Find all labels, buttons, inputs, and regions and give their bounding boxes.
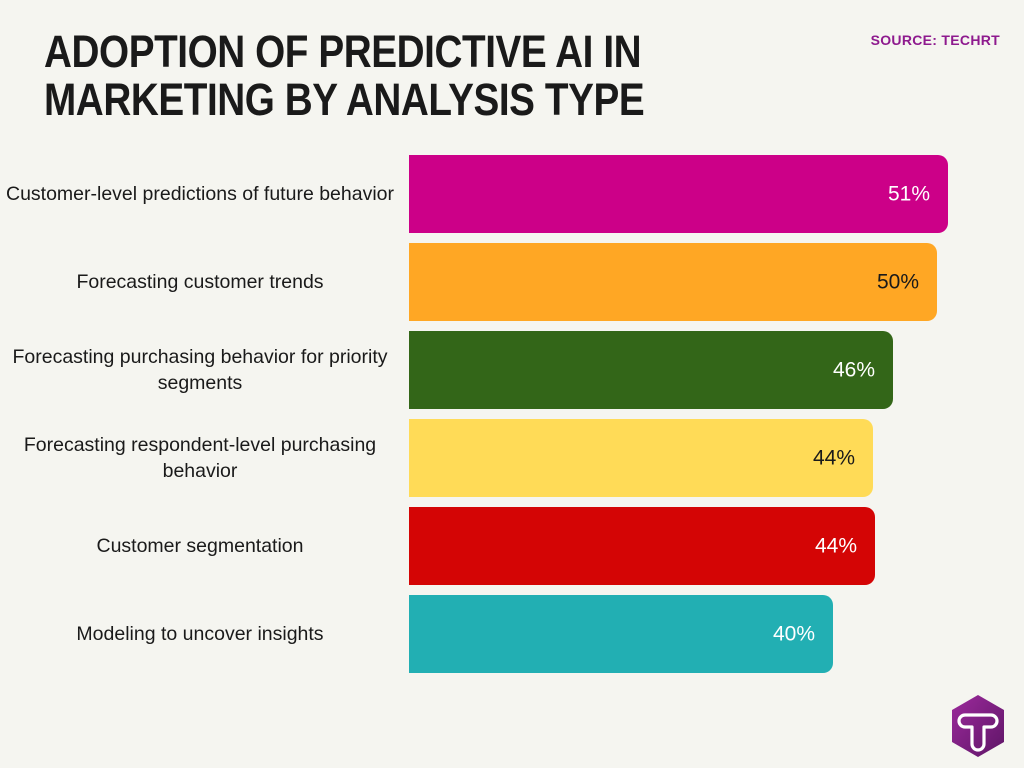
bar-value-label: 44% <box>813 448 855 469</box>
bar-row: Forecasting purchasing behavior for prio… <box>0 331 1024 409</box>
bar[interactable]: 44% <box>409 507 875 585</box>
bar-row: Modeling to uncover insights40% <box>0 595 1024 673</box>
bar-category-label: Forecasting purchasing behavior for prio… <box>4 344 396 396</box>
bar-value-label: 44% <box>815 536 857 557</box>
chart-canvas: Adoption of predictive AI in marketing b… <box>0 0 1024 768</box>
bar[interactable]: 44% <box>409 419 873 497</box>
bar-chart-plot-area: Customer-level predictions of future beh… <box>0 155 1024 665</box>
bar-row: Forecasting respondent-level purchasing … <box>0 419 1024 497</box>
techrt-hexagon-t-logo <box>949 694 1007 758</box>
bar-value-label: 40% <box>773 624 815 645</box>
bar-category-label: Forecasting customer trends <box>4 269 396 295</box>
bar[interactable]: 51% <box>409 155 948 233</box>
bar-value-label: 50% <box>877 272 919 293</box>
page-title: Adoption of predictive AI in marketing b… <box>44 28 706 124</box>
bar-row: Customer-level predictions of future beh… <box>0 155 1024 233</box>
bar-value-label: 51% <box>888 184 930 205</box>
bar-row: Customer segmentation44% <box>0 507 1024 585</box>
source-attribution: SOURCE: TECHRT <box>871 32 1000 48</box>
bar[interactable]: 50% <box>409 243 937 321</box>
bar[interactable]: 40% <box>409 595 833 673</box>
bar-category-label: Modeling to uncover insights <box>4 621 396 647</box>
bar-category-label: Customer segmentation <box>4 533 396 559</box>
bar-row: Forecasting customer trends50% <box>0 243 1024 321</box>
bar[interactable]: 46% <box>409 331 893 409</box>
bar-value-label: 46% <box>833 360 875 381</box>
bar-category-label: Customer-level predictions of future beh… <box>4 181 396 207</box>
bar-category-label: Forecasting respondent-level purchasing … <box>4 432 396 484</box>
